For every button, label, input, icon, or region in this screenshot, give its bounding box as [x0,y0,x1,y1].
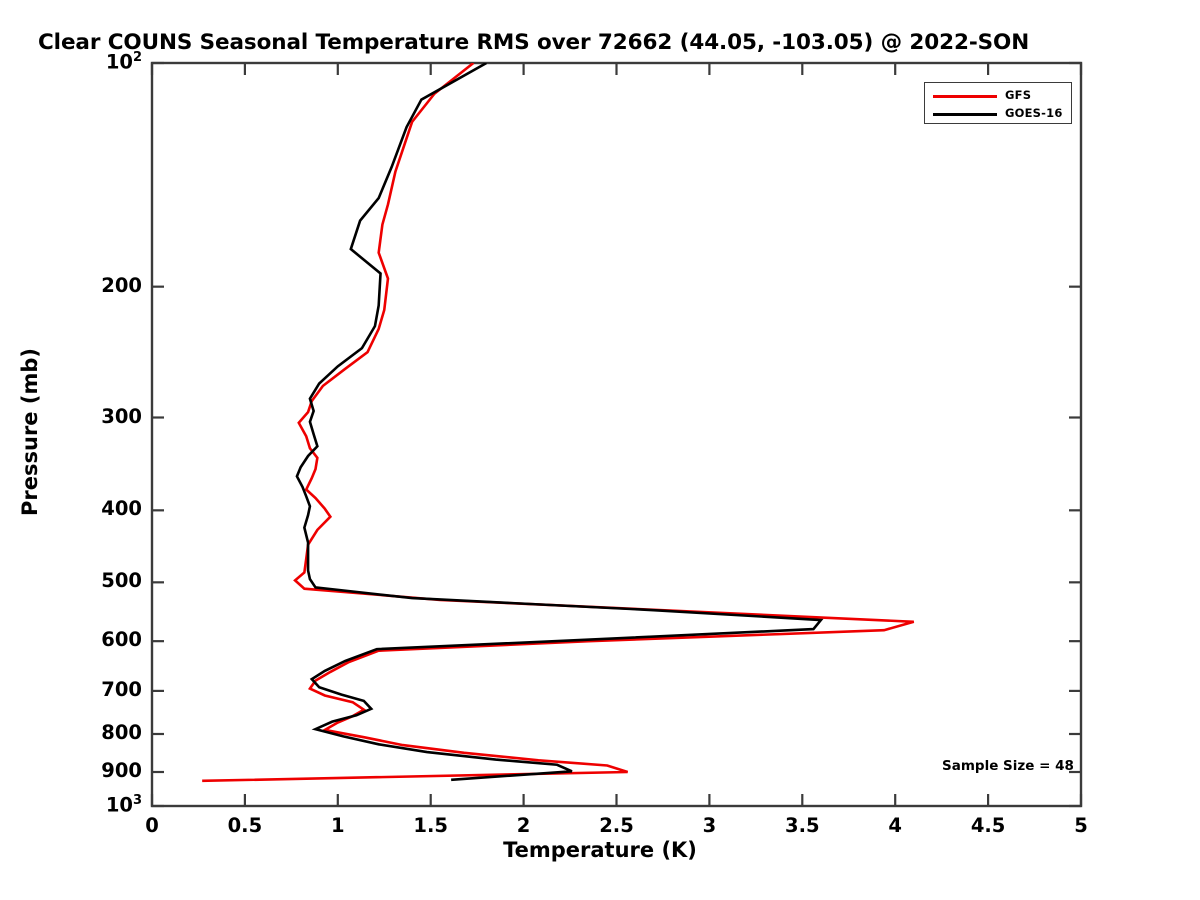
y-tick-label: 700 [52,678,142,701]
x-tick-label: 1 [308,814,368,837]
data-series-group [202,63,914,781]
x-tick-label: 3 [679,814,739,837]
y-tick-label: 400 [52,497,142,520]
x-tick-label: 2 [494,814,554,837]
y-tick-label: 800 [52,721,142,744]
y-tick-label: 900 [52,759,142,782]
chart-figure: Clear COUNS Seasonal Temperature RMS ove… [0,0,1200,900]
y-tick-label: 500 [52,569,142,592]
y-tick-label: 102 [52,50,142,74]
y-tick-label: 103 [52,793,142,817]
x-tick-label: 0.5 [215,814,275,837]
y-tick-label: 200 [52,274,142,297]
x-tick-label: 1.5 [401,814,461,837]
y-tick-label: 300 [52,405,142,428]
y-axis-ticks [152,63,1081,806]
axis-frame [152,63,1081,806]
legend-color-swatch [933,113,997,116]
x-tick-label: 5 [1051,814,1111,837]
x-axis-ticks [152,63,1081,806]
x-tick-label: 2.5 [587,814,647,837]
x-tick-label: 4 [865,814,925,837]
legend-item[interactable]: GFS [925,88,1071,104]
x-tick-label: 0 [122,814,182,837]
x-tick-label: 3.5 [772,814,832,837]
legend-label: GOES-16 [1005,106,1063,120]
legend-item[interactable]: GOES-16 [925,106,1071,122]
x-tick-label: 4.5 [958,814,1018,837]
legend: GFSGOES-16 [924,82,1072,124]
legend-color-swatch [933,95,997,98]
series-line-goes-16 [297,63,821,780]
y-tick-label: 600 [52,628,142,651]
legend-label: GFS [1005,88,1031,102]
sample-size-annotation: Sample Size = 48 [942,758,1074,774]
